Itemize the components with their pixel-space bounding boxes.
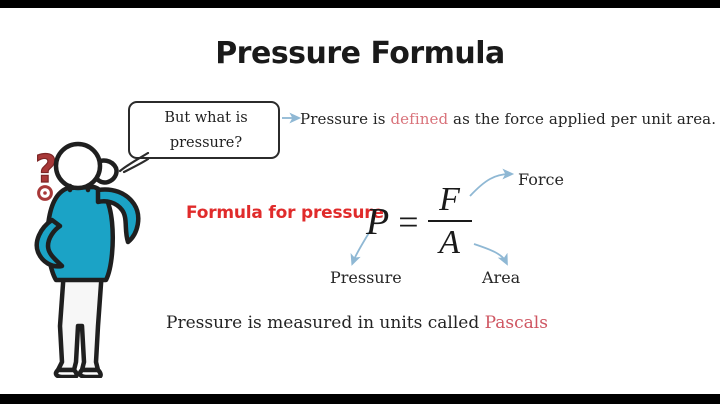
- definition-highlight: defined: [390, 110, 448, 128]
- character-legs: [58, 270, 102, 370]
- definition-part2: as the force applied per unit area.: [448, 110, 716, 128]
- page-title: Pressure Formula: [0, 36, 720, 71]
- speech-bubble-line1: But what is: [130, 106, 282, 131]
- arrow-a-to-area: [474, 244, 506, 262]
- character-head: [56, 144, 100, 188]
- letterbox-bar-top: [0, 0, 720, 8]
- footer-highlight: Pascals: [485, 313, 548, 333]
- footer-part1: Pressure is measured in units called: [166, 313, 485, 333]
- callout-label-force: Force: [518, 170, 564, 189]
- callout-label-pressure: Pressure: [330, 268, 402, 287]
- definition-sentence: Pressure is defined as the force applied…: [300, 110, 716, 128]
- pressure-equation: P = F A: [366, 183, 472, 260]
- equation-numerator-f: F: [439, 183, 460, 220]
- footer-sentence: Pressure is measured in units called Pas…: [166, 313, 548, 333]
- formula-label: Formula for pressure: [186, 203, 384, 223]
- slide-canvas: Pressure Formula But what is pressure? P…: [0, 0, 720, 404]
- character-foot-right: [80, 370, 101, 377]
- equation-denominator-a: A: [439, 222, 460, 260]
- equation-symbol-p: P: [366, 200, 389, 244]
- definition-part1: Pressure is: [300, 110, 390, 128]
- equation-equals-sign: =: [398, 201, 418, 243]
- thinking-person-illustration: [8, 130, 158, 378]
- letterbox-bar-bottom: [0, 394, 720, 404]
- character-foot-left: [56, 370, 77, 377]
- equation-fraction: F A: [428, 183, 472, 260]
- arrow-f-to-force: [470, 174, 510, 196]
- callout-label-area: Area: [482, 268, 520, 287]
